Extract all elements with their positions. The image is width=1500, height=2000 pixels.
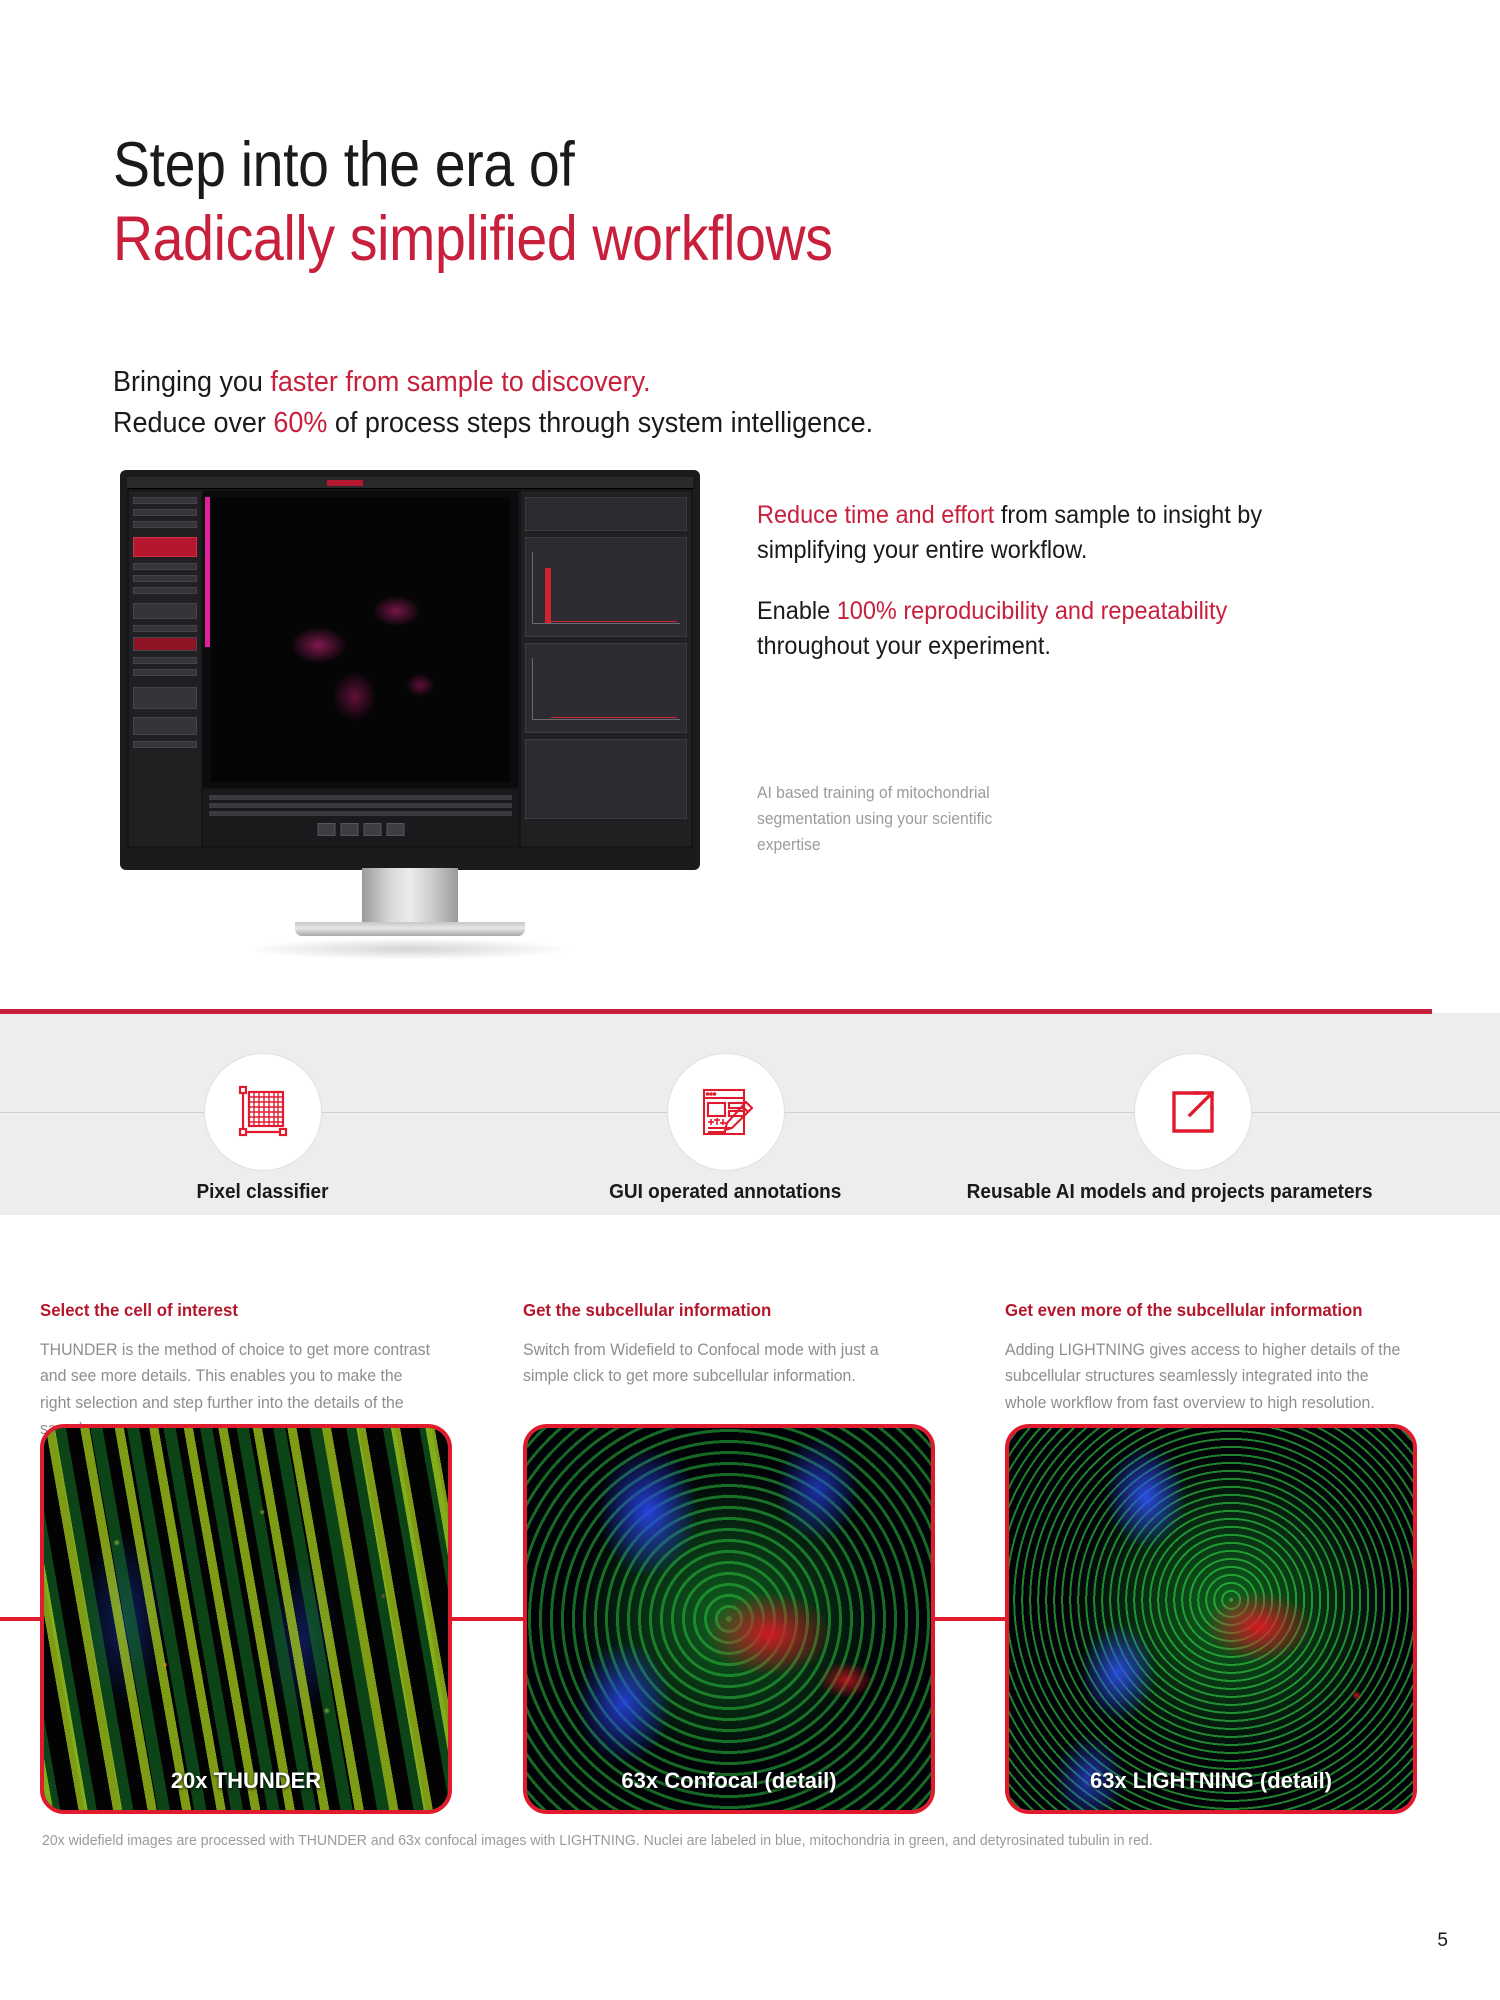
- micrograph-lightning: [1009, 1428, 1413, 1810]
- left-panel-row: [133, 497, 197, 504]
- micrograph-thunder: [44, 1428, 448, 1810]
- connector-rail-2: [935, 1617, 1007, 1621]
- bottom-table-row: [209, 811, 512, 816]
- left-panel-row: [133, 717, 197, 735]
- image-tile-label: 63x LIGHTNING (detail): [1009, 1768, 1413, 1794]
- page-title: Step into the era of Radically simplifie…: [113, 128, 1213, 277]
- software-left-panel: [129, 491, 201, 846]
- topbar-accent: [327, 480, 363, 486]
- side-copy-paragraph-1: Reduce time and effort from sample to in…: [757, 498, 1330, 568]
- subheading-line-2: Reduce over 60% of process steps through…: [113, 403, 950, 444]
- external-link-icon: [1164, 1083, 1222, 1141]
- software-bottom-panel: [203, 790, 518, 846]
- histogram-panel: [525, 537, 687, 637]
- column-select-cell: Select the cell of interest THUNDER is t…: [40, 1300, 452, 1443]
- column-heading: Select the cell of interest: [40, 1300, 436, 1321]
- bottom-table-row: [209, 803, 512, 808]
- subheading-line-1: Bringing you faster from sample to disco…: [113, 362, 950, 403]
- pixel-grid-icon: [233, 1082, 293, 1142]
- column-heading: Get even more of the subcellular informa…: [1005, 1300, 1401, 1321]
- column-more-subcellular: Get even more of the subcellular informa…: [1005, 1300, 1417, 1416]
- histogram-plot: [532, 552, 680, 624]
- histogram-peak: [545, 568, 551, 623]
- controls-panel: [525, 739, 687, 819]
- feature-label-reusable-models: Reusable AI models and projects paramete…: [967, 1181, 1373, 1204]
- left-panel-row: [133, 521, 197, 528]
- left-panel-row: [133, 669, 197, 676]
- page: Step into the era of Radically simplifie…: [0, 0, 1500, 2000]
- toolbar-chip: [317, 823, 335, 836]
- gui-annotation-icon: [696, 1082, 756, 1142]
- software-right-panel: [521, 491, 691, 846]
- feature-label-pixel-classifier: Pixel classifier: [196, 1181, 328, 1204]
- right-panel-header: [525, 497, 687, 531]
- feature-label-gui-annotations: GUI operated annotations: [609, 1181, 841, 1204]
- monitor-stand-neck: [362, 868, 458, 926]
- intensity-bar: [205, 497, 210, 647]
- subheading-line-2-highlight: 60%: [273, 407, 327, 439]
- column-body: Switch from Widefield to Confocal mode w…: [523, 1337, 919, 1390]
- micrograph-confocal: [527, 1428, 931, 1810]
- image-tile-label: 20x THUNDER: [44, 1768, 448, 1794]
- image-tile-thunder[interactable]: 20x THUNDER: [40, 1424, 452, 1814]
- side-copy: Reduce time and effort from sample to in…: [757, 498, 1367, 690]
- image-tile-confocal[interactable]: 63x Confocal (detail): [523, 1424, 935, 1814]
- band-top-rule: [0, 1009, 1432, 1014]
- image-viewer: [203, 491, 518, 788]
- image-tile-lightning[interactable]: 63x LIGHTNING (detail): [1005, 1424, 1417, 1814]
- histogram-baseline: [551, 621, 677, 622]
- footnote: 20x widefield images are processed with …: [42, 1833, 1419, 1849]
- left-panel-row: [133, 509, 197, 516]
- left-panel-row: [133, 603, 197, 619]
- left-panel-active-row: [133, 537, 197, 557]
- feature-icon-pixel-classifier[interactable]: [204, 1053, 322, 1171]
- side-copy-highlight-1: Reduce time and effort: [757, 501, 994, 529]
- monitor-shadow: [245, 938, 575, 960]
- monitor-caption: AI based training of mitochondrial segme…: [757, 780, 1014, 858]
- column-body: Adding LIGHTNING gives access to higher …: [1005, 1337, 1401, 1416]
- image-tile-label: 63x Confocal (detail): [527, 1768, 931, 1794]
- left-panel-row: [133, 637, 197, 651]
- column-subcellular: Get the subcellular information Switch f…: [523, 1300, 935, 1390]
- column-heading: Get the subcellular information: [523, 1300, 919, 1321]
- side-copy-paragraph-2: Enable 100% reproducibility and repeatab…: [757, 594, 1330, 664]
- subheading-line-1-prefix: Bringing you: [113, 366, 270, 398]
- toolbar-chip: [386, 823, 404, 836]
- software-topbar: [127, 477, 693, 489]
- monitor-stand-foot: [295, 922, 525, 936]
- subheading-line-2-prefix: Reduce over: [113, 407, 273, 439]
- bottom-toolbar: [317, 823, 404, 836]
- connector-rail-left: [0, 1617, 44, 1621]
- left-panel-row: [133, 575, 197, 582]
- connector-rail-1: [452, 1617, 524, 1621]
- headline-line-2: Radically simplified workflows: [113, 202, 1081, 276]
- left-panel-row: [133, 657, 197, 664]
- profile-baseline: [551, 717, 677, 718]
- left-panel-row: [133, 625, 197, 632]
- monitor-body: [120, 470, 700, 870]
- subheading-line-2-suffix: of process steps through system intellig…: [327, 407, 873, 439]
- subheading: Bringing you faster from sample to disco…: [113, 362, 1013, 444]
- side-copy-highlight-2: 100% reproducibility and repeatability: [837, 597, 1228, 625]
- feature-icon-reusable-models[interactable]: [1134, 1053, 1252, 1171]
- toolbar-chip: [363, 823, 381, 836]
- bottom-table-row: [209, 795, 512, 800]
- profile-plot: [532, 658, 680, 720]
- profile-panel: [525, 643, 687, 733]
- subheading-line-1-highlight: faster from sample to discovery.: [270, 366, 650, 398]
- toolbar-chip: [340, 823, 358, 836]
- side-copy-prefix-2: Enable: [757, 597, 837, 625]
- feature-icon-gui-annotations[interactable]: [667, 1053, 785, 1171]
- left-panel-row: [133, 687, 197, 709]
- headline-line-1: Step into the era of: [113, 128, 1081, 202]
- monitor-screen: [127, 477, 693, 848]
- left-panel-row: [133, 587, 197, 594]
- left-panel-row: [133, 741, 197, 748]
- page-number: 5: [1437, 1930, 1448, 1952]
- mitochondria-preview: [211, 497, 510, 782]
- monitor-illustration: [110, 470, 710, 970]
- left-panel-row: [133, 563, 197, 570]
- side-copy-suffix-2: throughout your experiment.: [757, 632, 1051, 660]
